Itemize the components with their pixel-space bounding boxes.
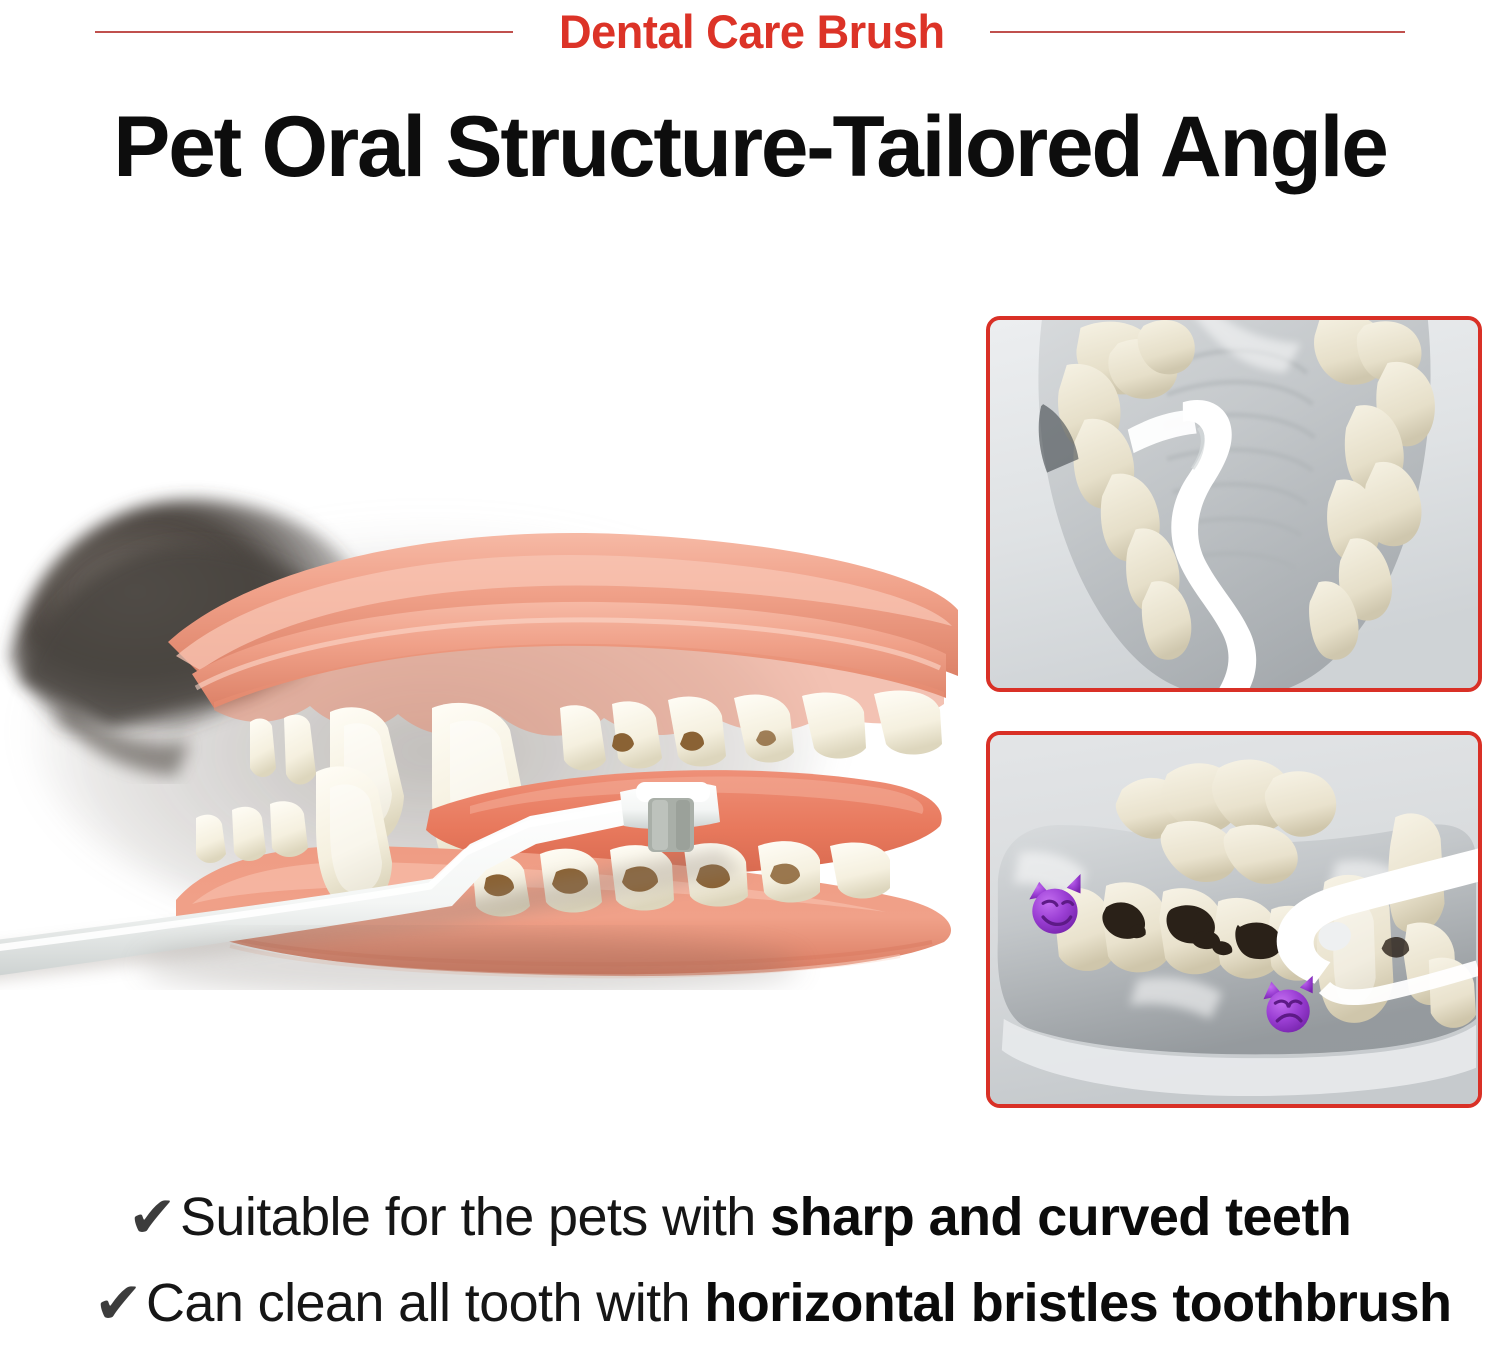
eyebrow-rule-left (95, 31, 513, 33)
side-jaw-model-photo (990, 735, 1478, 1104)
feature-bullet-2-text: Can clean all tooth with horizontal bris… (146, 1276, 1451, 1330)
feature-bullet-list: ✔ Suitable for the pets with sharp and c… (0, 1186, 1500, 1346)
photo-panel-upper-jaw[interactable] (986, 316, 1482, 692)
eyebrow-rule-right (990, 31, 1405, 33)
upper-jaw-model-photo (990, 320, 1478, 688)
bullet-2-emphasis: horizontal bristles toothbrush (704, 1273, 1451, 1333)
feature-bullet-2: ✔ Can clean all tooth with horizontal br… (94, 1272, 1451, 1330)
feature-bullet-1: ✔ Suitable for the pets with sharp and c… (128, 1186, 1351, 1244)
check-icon: ✔ (94, 1274, 146, 1332)
bullet-2-lead: Can clean all tooth with (146, 1273, 704, 1333)
bullet-1-lead: Suitable for the pets with (180, 1187, 770, 1247)
eyebrow-header: Dental Care Brush (0, 0, 1500, 62)
check-icon: ✔ (128, 1188, 180, 1246)
dog-mouth-illustration (0, 430, 960, 990)
eyebrow-label: Dental Care Brush (559, 8, 945, 55)
page-title: Pet Oral Structure-Tailored Angle (4, 104, 1497, 192)
photo-panel-side-jaw[interactable] (986, 731, 1482, 1108)
dog-mouth-svg (0, 430, 960, 990)
product-feature-page: Dental Care Brush Pet Oral Structure-Tai… (0, 0, 1500, 1346)
feature-bullet-1-text: Suitable for the pets with sharp and cur… (180, 1190, 1351, 1244)
bullet-1-emphasis: sharp and curved teeth (770, 1187, 1351, 1247)
